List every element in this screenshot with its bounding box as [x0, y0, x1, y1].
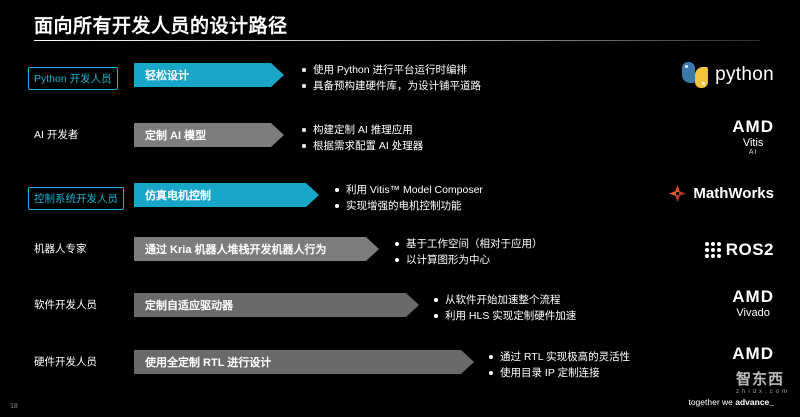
page-title: 面向所有开发人员的设计路径 — [34, 11, 288, 38]
bullet-item: 使用 Python 进行平台运行时编排 — [300, 62, 481, 78]
bullet-item: 构建定制 AI 推理应用 — [300, 122, 423, 138]
bullet-item: 具备预构建硬件库，为设计铺平道路 — [300, 78, 481, 94]
tagline-bold: advance_ — [735, 397, 774, 407]
amd-wordmark: AMD — [732, 118, 774, 135]
row-software: 软件开发人员 定制自适应驱动器 从软件开始加速整个流程 利用 HLS 实现定制硬… — [0, 288, 800, 340]
python-icon — [682, 62, 708, 88]
title-divider — [34, 40, 760, 41]
logo-mathworks: MathWorks — [668, 184, 774, 203]
bullets-control: 利用 Vitis™ Model Composer 实现增强的电机控制功能 — [333, 182, 483, 214]
logo-ros2: ROS2 — [705, 240, 774, 260]
ros2-wordmark: ROS2 — [726, 240, 774, 260]
logo-amd-plain: AMD — [732, 345, 774, 362]
bullet-item: 利用 Vitis™ Model Composer — [333, 182, 483, 198]
amd-wordmark: AMD — [732, 345, 774, 362]
logo-python: python — [682, 62, 774, 88]
row-python: Python 开发人员 轻松设计 使用 Python 进行平台运行时编排 具备预… — [0, 58, 800, 110]
row-hardware: 硬件开发人员 使用全定制 RTL 进行设计 通过 RTL 实现极高的灵活性 使用… — [0, 345, 800, 397]
ros-dots-icon — [705, 242, 721, 258]
vivado-label: Vivado — [736, 307, 769, 319]
slide-root: 面向所有开发人员的设计路径 Python 开发人员 轻松设计 使用 Python… — [0, 0, 800, 417]
bullet-item: 以计算图形为中心 — [393, 252, 543, 268]
bullets-ai: 构建定制 AI 推理应用 根据需求配置 AI 处理器 — [300, 122, 423, 154]
tagline: together we advance_ — [688, 397, 774, 407]
row-control: 控制系统开发人员 仿真电机控制 利用 Vitis™ Model Composer… — [0, 178, 800, 230]
row-ai: AI 开发者 定制 AI 模型 构建定制 AI 推理应用 根据需求配置 AI 处… — [0, 118, 800, 170]
vitis-ai-label: AI — [749, 149, 758, 156]
tagline-regular: together we — [688, 397, 735, 407]
chevron-hardware: 使用全定制 RTL 进行设计 — [134, 350, 474, 374]
bullet-item: 实现增强的电机控制功能 — [333, 198, 483, 214]
bullet-item: 使用目录 IP 定制连接 — [487, 365, 630, 381]
bullets-python: 使用 Python 进行平台运行时编排 具备预构建硬件库，为设计铺平道路 — [300, 62, 481, 94]
bullet-item: 根据需求配置 AI 处理器 — [300, 138, 423, 154]
role-label-python: Python 开发人员 — [28, 67, 118, 90]
python-wordmark: python — [715, 64, 774, 86]
vitis-label: Vitis — [743, 137, 764, 149]
amd-wordmark: AMD — [732, 288, 774, 305]
logo-amd-vivado: AMD Vivado — [732, 288, 774, 319]
logo-amd-vitis: AMD Vitis AI — [732, 118, 774, 156]
bullets-software: 从软件开始加速整个流程 利用 HLS 实现定制硬件加速 — [432, 292, 576, 324]
mathworks-wordmark: MathWorks — [693, 185, 774, 202]
chevron-software: 定制自适应驱动器 — [134, 293, 419, 317]
role-label-hardware: 硬件开发人员 — [34, 355, 134, 369]
watermark: 智东西 zhidx.com — [736, 368, 790, 395]
bullet-item: 通过 RTL 实现极高的灵活性 — [487, 349, 630, 365]
mathworks-icon — [668, 184, 687, 203]
bullet-item: 从软件开始加速整个流程 — [432, 292, 576, 308]
chevron-robotics: 通过 Kria 机器人堆栈开发机器人行为 — [134, 237, 379, 261]
role-label-software: 软件开发人员 — [34, 298, 134, 312]
chevron-control: 仿真电机控制 — [134, 183, 319, 207]
role-label-robotics: 机器人专家 — [34, 242, 134, 256]
bullets-hardware: 通过 RTL 实现极高的灵活性 使用目录 IP 定制连接 — [487, 349, 630, 381]
page-number: 18 — [10, 403, 18, 410]
role-label-control: 控制系统开发人员 — [28, 187, 124, 210]
bullets-robotics: 基于工作空间（相对于应用） 以计算图形为中心 — [393, 236, 543, 268]
chevron-ai: 定制 AI 模型 — [134, 123, 284, 147]
role-label-ai: AI 开发者 — [34, 128, 134, 142]
bullet-item: 利用 HLS 实现定制硬件加速 — [432, 308, 576, 324]
bullet-item: 基于工作空间（相对于应用） — [393, 236, 543, 252]
row-robotics: 机器人专家 通过 Kria 机器人堆栈开发机器人行为 基于工作空间（相对于应用）… — [0, 232, 800, 284]
chevron-python: 轻松设计 — [134, 63, 284, 87]
